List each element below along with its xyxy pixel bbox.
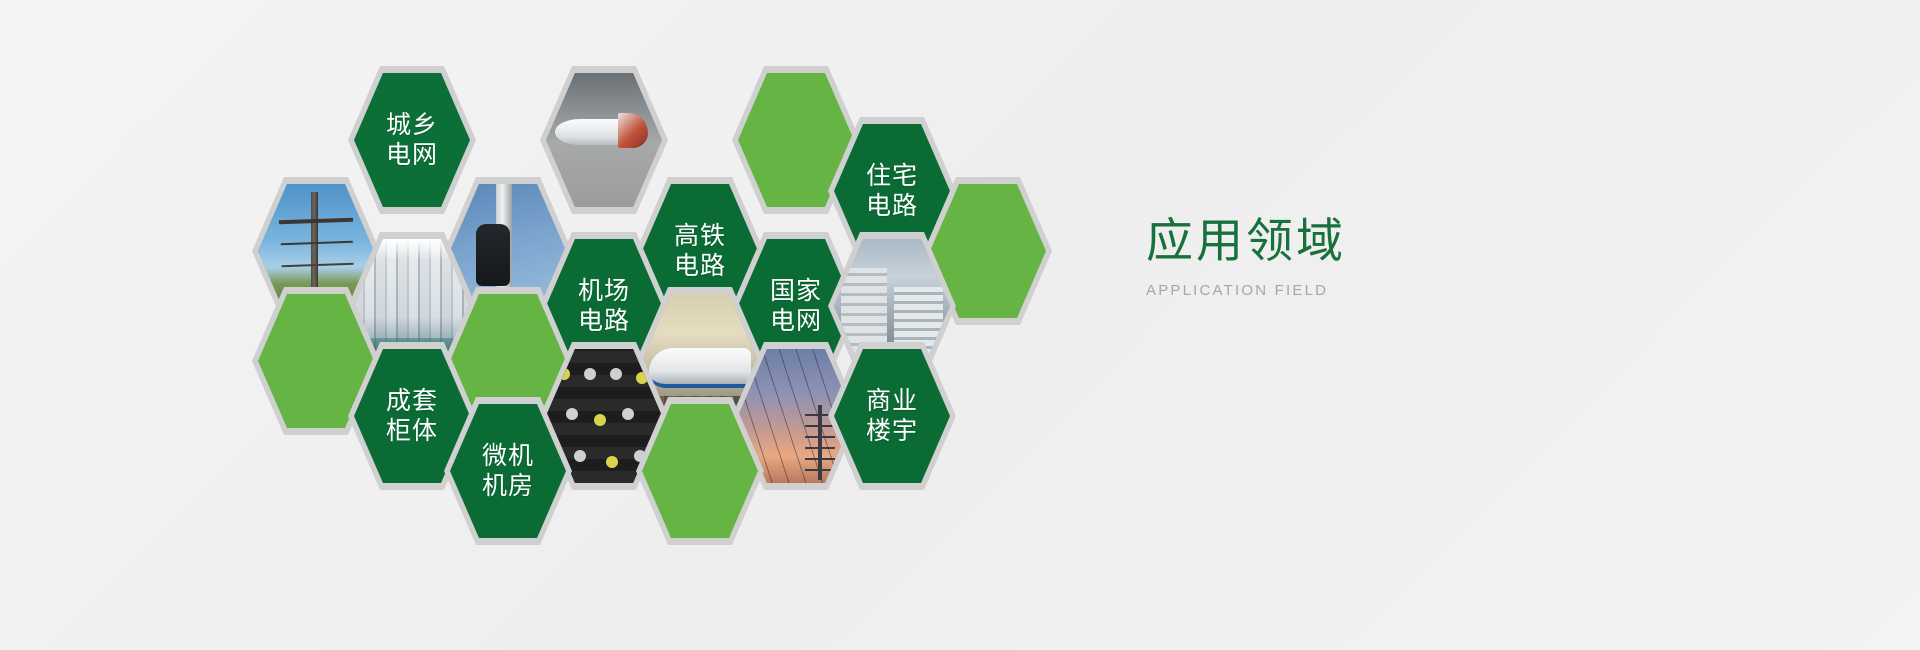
page-title: 应用领域	[1146, 216, 1566, 268]
hex-commercial-building[interactable]: 商业 楼宇	[828, 342, 956, 490]
airport-apron-aircraft-image	[546, 73, 662, 207]
hex-label: 微机 机房	[482, 441, 534, 502]
hex-label: 国家 电网	[770, 276, 822, 337]
hex-label: 高铁 电路	[674, 221, 726, 282]
hex-inner: 商业 楼宇	[834, 349, 950, 483]
hex-inner: 微机 机房	[450, 404, 566, 538]
hex-label: 机场 电路	[578, 276, 630, 337]
hexagon-cluster: 城乡 电网 高铁 电路	[236, 42, 1086, 512]
hex-label: 成套 柜体	[386, 386, 438, 447]
hex-label: 住宅 电路	[866, 161, 918, 222]
title-block: 应用领域 APPLICATION FIELD	[1146, 216, 1566, 299]
hex-label: 商业 楼宇	[866, 386, 918, 447]
application-field-banner: 城乡 电网 高铁 电路	[0, 0, 1920, 650]
page-subtitle: APPLICATION FIELD	[1146, 282, 1566, 299]
hex-inner	[546, 73, 662, 207]
hex-label: 城乡 电网	[386, 110, 438, 171]
hex-airport-photo[interactable]	[540, 66, 668, 214]
hex-inner: 城乡 电网	[354, 73, 470, 207]
hex-inner	[642, 404, 758, 538]
hex-urban-rural-grid[interactable]: 城乡 电网	[348, 66, 476, 214]
